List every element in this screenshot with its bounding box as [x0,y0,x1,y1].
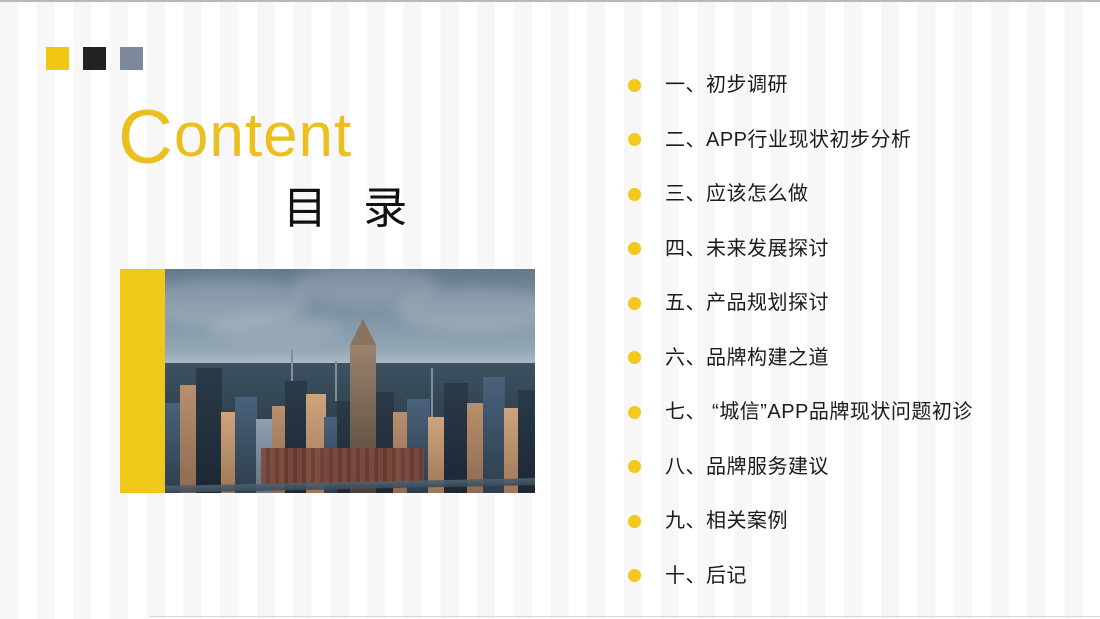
toc-item-label: 九、相关案例 [665,509,788,533]
photo-low-rise-roofs [261,448,424,484]
title-capital-letter: C [118,95,174,180]
toc-item-label: 七、 “城信”APP品牌现状问题初诊 [665,400,973,424]
toc-item-label: 三、应该怎么做 [665,182,809,206]
toc-item-label: 六、品牌构建之道 [665,346,829,370]
bullet-icon [628,188,641,201]
photo-spire [291,350,293,381]
toc-item-5[interactable]: 五、产品规划探讨 [628,276,1068,331]
decorative-squares [46,47,143,70]
toc-item-6[interactable]: 六、品牌构建之道 [628,331,1068,386]
toc-item-label: 十、后记 [665,564,747,588]
photo-cloud [394,287,535,332]
photo-accent-bar [120,269,166,493]
title-rest: ontent [174,101,352,170]
cityscape-photo [165,269,535,493]
bullet-icon [628,406,641,419]
photo-building [483,377,505,493]
bullet-icon [628,79,641,92]
toc-item-7[interactable]: 七、 “城信”APP品牌现状问题初诊 [628,385,1068,440]
bullet-icon [628,515,641,528]
page-title-chinese: 目 录 [283,185,419,233]
gray-square-icon [120,47,143,70]
toc-item-1[interactable]: 一、初步调研 [628,58,1068,113]
table-of-contents: 一、初步调研 二、APP行业现状初步分析 三、应该怎么做 四、未来发展探讨 五、… [628,58,1068,603]
dark-square-icon [83,47,106,70]
photo-building [444,383,468,493]
page-title-english: Content [118,100,352,176]
toc-item-9[interactable]: 九、相关案例 [628,494,1068,549]
toc-item-label: 一、初步调研 [665,73,788,97]
toc-item-4[interactable]: 四、未来发展探讨 [628,222,1068,277]
presentation-slide: Content 目 录 [0,0,1100,619]
bullet-icon [628,133,641,146]
photo-spire [431,368,433,417]
cityscape-photo-block [120,269,535,493]
photo-cloud [209,314,342,345]
photo-building [196,368,222,493]
toc-item-2[interactable]: 二、APP行业现状初步分析 [628,113,1068,168]
bullet-icon [628,297,641,310]
toc-item-label: 八、品牌服务建议 [665,455,829,479]
toc-item-label: 四、未来发展探讨 [665,237,829,261]
yellow-square-icon [46,47,69,70]
toc-item-3[interactable]: 三、应该怎么做 [628,167,1068,222]
bullet-icon [628,351,641,364]
bullet-icon [628,460,641,473]
photo-building [235,397,257,493]
bullet-icon [628,242,641,255]
photo-spire [335,361,337,401]
toc-item-10[interactable]: 十、后记 [628,549,1068,604]
toc-item-8[interactable]: 八、品牌服务建议 [628,440,1068,495]
bullet-icon [628,569,641,582]
toc-item-label: 五、产品规划探讨 [665,291,829,315]
toc-item-label: 二、APP行业现状初步分析 [665,128,912,152]
